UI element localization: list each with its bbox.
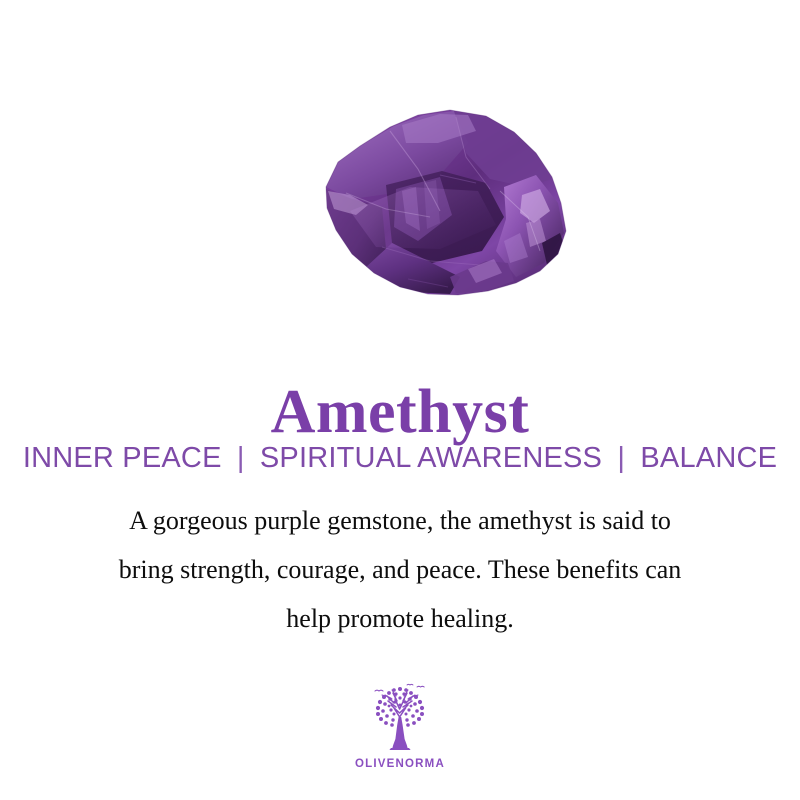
- description-text: A gorgeous purple gemstone, the amethyst…: [50, 496, 750, 643]
- amethyst-product-card: Amethyst INNER PEACE | SPIRITUAL AWARENE…: [0, 0, 800, 800]
- description-line-2: bring strength, courage, and peace. Thes…: [50, 545, 750, 594]
- keyword-separator-1: |: [230, 442, 252, 474]
- keyword-spiritual-awareness: SPIRITUAL AWARENESS: [260, 442, 602, 474]
- description-line-1: A gorgeous purple gemstone, the amethyst…: [50, 496, 750, 545]
- keyword-inner-peace: INNER PEACE: [23, 442, 222, 474]
- brand-logo: OLIVENORMA: [0, 683, 800, 770]
- amethyst-crystal-image: [40, 76, 800, 326]
- keyword-list: INNER PEACE | SPIRITUAL AWARENESS | BALA…: [0, 440, 800, 476]
- page-title: Amethyst: [0, 377, 800, 447]
- keyword-balance: BALANCE: [640, 442, 777, 474]
- description-line-3: help promote healing.: [50, 594, 750, 643]
- tree-of-life-icon: [361, 683, 439, 755]
- brand-name: OLIVENORMA: [355, 758, 445, 770]
- amethyst-crystal-wrapper: [290, 91, 590, 311]
- amethyst-crystal-illustration: [290, 91, 590, 311]
- crystal-body: [290, 91, 590, 311]
- keyword-separator-2: |: [610, 442, 632, 474]
